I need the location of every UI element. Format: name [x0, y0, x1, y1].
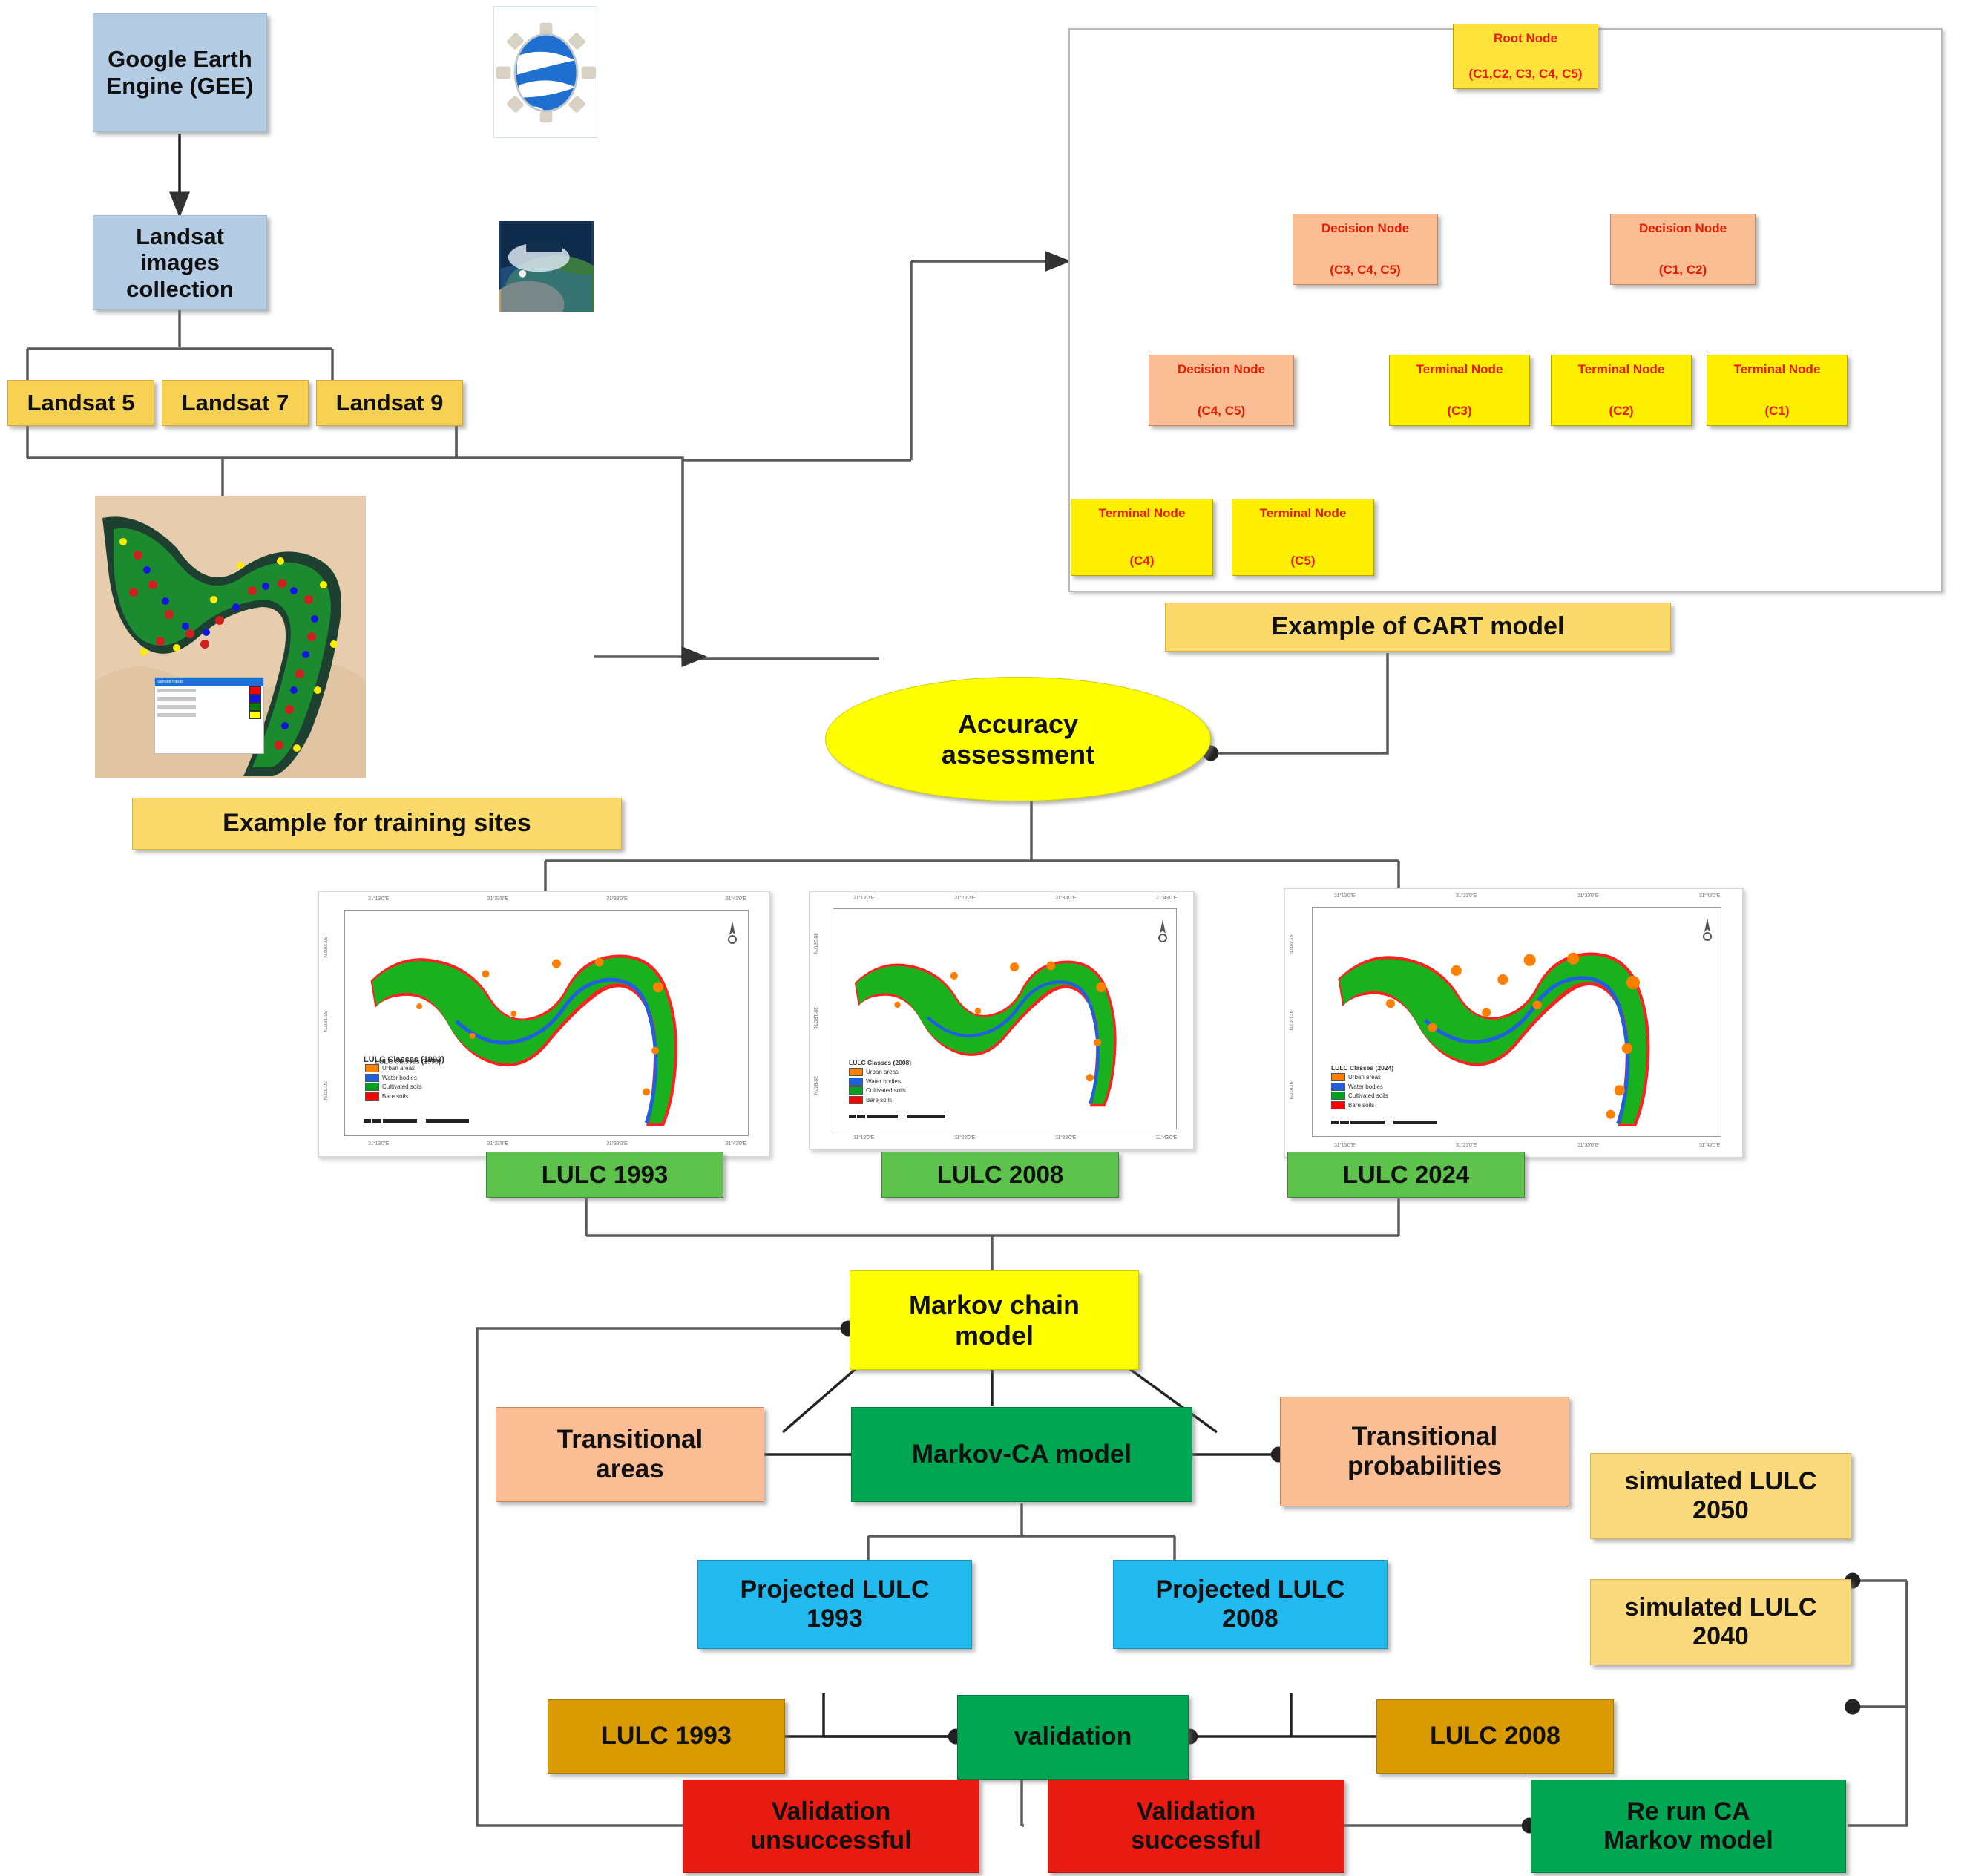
swatch-urban — [365, 1064, 379, 1072]
map-legend-2008: LULC Classes (2008) Urban areas Water bo… — [849, 1059, 911, 1105]
validation-successful-box[interactable]: Validation successful — [1048, 1780, 1344, 1873]
legend-label: Cultivated soils — [866, 1087, 906, 1094]
swatch-water — [365, 1074, 379, 1082]
legend-row: Water bodies — [849, 1078, 911, 1086]
training-legend-row — [155, 686, 263, 695]
cart-terminal-node-c3[interactable]: Terminal Node (C3) — [1389, 355, 1530, 426]
accuracy-line1: Accuracy — [942, 709, 1094, 739]
map-y-tick-2008: 30°28'0"N — [812, 933, 818, 954]
legend-label: Cultivated soils — [382, 1083, 422, 1090]
terminal-node-classes: (C4) — [1073, 554, 1211, 568]
legend-label: Bare soils — [1348, 1102, 1374, 1109]
lulc-1993-label: LULC 1993 — [601, 1722, 732, 1751]
terminal-node-classes: (C3) — [1391, 404, 1528, 419]
cart-caption-label: Example of CART model — [1272, 612, 1565, 641]
map-legend-2024: LULC Classes (2024) Urban areas Water bo… — [1331, 1064, 1393, 1110]
map-x-ticks-top-2024: 31°13'0"E31°23'0"E31°33'0"E31°43'0"E — [1334, 893, 1720, 899]
swatch-urban — [249, 686, 261, 695]
legend-row: Water bodies — [365, 1074, 422, 1082]
swatch-bare — [249, 711, 261, 719]
transitional-areas-line2: areas — [557, 1454, 703, 1484]
sensor-landsat-9[interactable]: Landsat 9 — [316, 380, 463, 426]
swatch-urban — [849, 1068, 863, 1076]
legend-title-1993: LULC Classes (1993) — [364, 1055, 444, 1064]
swatch-cultivated — [365, 1083, 379, 1091]
map-legend-1993: Urban areas Water bodies Cultivated soil… — [365, 1064, 422, 1101]
legend-label: Water bodies — [866, 1078, 901, 1085]
map-scalebar-1993 — [364, 1119, 469, 1123]
sensor-label: Landsat 9 — [336, 390, 444, 416]
projected-1993-line2: 1993 — [740, 1604, 929, 1633]
terminal-node-classes: (C5) — [1234, 554, 1372, 568]
lulc-caption-label: LULC 2008 — [937, 1161, 1064, 1189]
sim-2050-line1: simulated LULC — [1625, 1467, 1817, 1496]
cart-terminal-node-c5[interactable]: Terminal Node (C5) — [1232, 499, 1374, 576]
terminal-node-title: Terminal Node — [1709, 362, 1845, 377]
cart-terminal-node-c4[interactable]: Terminal Node (C4) — [1071, 499, 1213, 576]
swatch-cultivated — [249, 703, 261, 711]
sim-2040-line2: 2040 — [1625, 1622, 1817, 1651]
terminal-node-title: Terminal Node — [1391, 362, 1528, 377]
training-legend-label — [157, 705, 196, 709]
map-x-ticks-bottom-2024: 31°13'0"E31°23'0"E31°33'0"E31°43'0"E — [1334, 1143, 1720, 1148]
decision-node-title: Decision Node — [1151, 362, 1292, 377]
workflow-diagram: Google Earth Engine (GEE) Landsat images… — [0, 0, 1970, 1876]
training-legend-header: Sample Inputs — [155, 678, 263, 686]
cart-terminal-node-c2[interactable]: Terminal Node (C2) — [1551, 355, 1692, 426]
simulated-lulc-2050-box[interactable]: simulated LULC 2050 — [1590, 1453, 1851, 1539]
training-sites-legend: Sample Inputs — [154, 677, 264, 754]
transitional-prob-line1: Transitional — [1347, 1422, 1502, 1452]
legend-label: Urban areas — [866, 1069, 899, 1075]
lulc-map-card-2008: LULC Classes (2008) Urban areas Water bo… — [809, 891, 1195, 1150]
map-y-tick-2008: 30°18'0"N — [812, 1007, 818, 1028]
markov-chain-line2: model — [909, 1320, 1080, 1351]
lulc-map-card-2024: LULC Classes (2024) Urban areas Water bo… — [1284, 888, 1744, 1158]
legend-row: Urban areas — [849, 1068, 911, 1076]
decision-node-classes: (C3, C4, C5) — [1295, 263, 1436, 278]
lulc-2008-reference-box[interactable]: LULC 2008 — [1376, 1699, 1614, 1774]
landsat-collection-box[interactable]: Landsat images collection — [93, 215, 267, 310]
projected-1993-line1: Projected LULC — [740, 1575, 929, 1604]
rerun-line2: Markov model — [1603, 1826, 1773, 1855]
swatch-bare — [1331, 1101, 1345, 1109]
swatch-water — [1331, 1083, 1345, 1091]
cart-decision-node-c3c4c5[interactable]: Decision Node (C3, C4, C5) — [1293, 214, 1438, 285]
map-x-ticks-bottom-1993: 31°13'0"E31°23'0"E31°33'0"E31°43'0"E — [368, 1141, 746, 1147]
training-legend-label — [157, 689, 196, 692]
map-y-tick-2008: 30°8'0"N — [812, 1076, 818, 1095]
cart-decision-node-c4c5[interactable]: Decision Node (C4, C5) — [1149, 355, 1294, 426]
map-x-ticks-top-1993: 31°13'0"E31°23'0"E31°33'0"E31°43'0"E — [368, 896, 746, 902]
cart-decision-node-c1c2[interactable]: Decision Node (C1, C2) — [1610, 214, 1756, 285]
markov-chain-line1: Markov chain — [909, 1290, 1080, 1320]
validation-unsuccessful-line2: unsuccessful — [750, 1826, 911, 1855]
sim-2040-line1: simulated LULC — [1625, 1593, 1817, 1622]
training-legend-row — [155, 711, 263, 719]
projected-lulc-2008-box[interactable]: Projected LULC 2008 — [1113, 1560, 1388, 1649]
swatch-cultivated — [1331, 1092, 1345, 1100]
swatch-bare — [849, 1096, 863, 1104]
legend-label: Bare soils — [866, 1097, 892, 1103]
training-legend-label — [157, 713, 196, 717]
terminal-node-classes: (C1) — [1709, 404, 1845, 419]
transitional-probabilities-box[interactable]: Transitional probabilities — [1280, 1397, 1569, 1506]
transitional-prob-line2: probabilities — [1347, 1452, 1502, 1481]
validation-successful-line2: successful — [1131, 1826, 1261, 1855]
map-scalebar-2008 — [849, 1115, 945, 1118]
cart-terminal-node-c1[interactable]: Terminal Node (C1) — [1707, 355, 1848, 426]
satellite-thumbnail-icon — [499, 221, 594, 312]
training-caption-label: Example for training sites — [223, 809, 531, 838]
legend-label: Water bodies — [1348, 1083, 1383, 1090]
swatch-water — [249, 695, 261, 703]
training-legend-row — [155, 695, 263, 703]
validation-unsuccessful-line1: Validation — [750, 1797, 911, 1826]
training-sites-caption: Example for training sites — [132, 798, 622, 850]
markov-chain-model-box[interactable]: Markov chain model — [850, 1270, 1139, 1370]
terminal-node-title: Terminal Node — [1553, 362, 1690, 377]
map-y-tick-2024: 30°28'0"N — [1288, 934, 1293, 954]
validation-box[interactable]: validation — [957, 1695, 1189, 1780]
map-scalebar-2024 — [1331, 1121, 1437, 1124]
decision-node-classes: (C4, C5) — [1151, 404, 1292, 419]
legend-row: Urban areas — [1331, 1073, 1393, 1081]
swatch-cultivated — [849, 1086, 863, 1095]
rerun-line1: Re run CA — [1603, 1797, 1773, 1826]
map-x-ticks-bottom-2008: 31°13'0"E31°23'0"E31°33'0"E31°43'0"E — [853, 1135, 1177, 1141]
sensor-label: Landsat 7 — [182, 390, 289, 416]
legend-row: Urban areas — [365, 1064, 422, 1072]
terminal-node-classes: (C2) — [1553, 404, 1690, 419]
lulc-label-2024[interactable]: LULC 2024 — [1287, 1152, 1525, 1198]
lulc-2008-label: LULC 2008 — [1430, 1722, 1560, 1751]
map-y-tick-1993: 30°18'0"N — [322, 1011, 327, 1032]
swatch-water — [849, 1078, 863, 1086]
legend-label: Urban areas — [382, 1065, 415, 1072]
sensor-landsat-7[interactable]: Landsat 7 — [162, 380, 309, 426]
transitional-areas-line1: Transitional — [557, 1425, 703, 1454]
lulc-caption-label: LULC 1993 — [542, 1161, 669, 1189]
validation-successful-line1: Validation — [1131, 1797, 1261, 1826]
google-earth-engine-globe-icon — [493, 6, 597, 138]
validation-label: validation — [1014, 1722, 1132, 1751]
north-arrow-icon — [726, 919, 739, 950]
lulc-label-2008[interactable]: LULC 2008 — [881, 1152, 1119, 1198]
north-arrow-icon — [1701, 916, 1714, 947]
map-y-tick-1993: 30°8'0"N — [322, 1081, 327, 1100]
sensor-landsat-5[interactable]: Landsat 5 — [7, 380, 154, 426]
legend-label: Cultivated soils — [1348, 1092, 1388, 1099]
legend-row: Cultivated soils — [365, 1083, 422, 1091]
swatch-urban — [1331, 1073, 1345, 1081]
training-legend-label — [157, 697, 196, 701]
validation-unsuccessful-box[interactable]: Validation unsuccessful — [683, 1780, 979, 1873]
projected-2008-line1: Projected LULC — [1155, 1575, 1344, 1604]
accuracy-line2: assessment — [942, 739, 1094, 770]
legend-row: Cultivated soils — [849, 1086, 911, 1095]
simulated-lulc-2040-box[interactable]: simulated LULC 2040 — [1590, 1579, 1851, 1665]
cart-root-node[interactable]: Root Node (C1,C2, C3, C4, C5) — [1453, 24, 1598, 89]
projected-2008-line2: 2008 — [1155, 1604, 1344, 1633]
map-x-ticks-top-2008: 31°13'0"E31°23'0"E31°33'0"E31°43'0"E — [853, 896, 1177, 901]
legend-label: Urban areas — [1348, 1074, 1381, 1080]
legend-row: Cultivated soils — [1331, 1092, 1393, 1100]
legend-label: Water bodies — [382, 1075, 417, 1081]
rerun-ca-markov-model-box[interactable]: Re run CA Markov model — [1531, 1780, 1846, 1873]
lulc-caption-label: LULC 2024 — [1343, 1161, 1470, 1189]
accuracy-assessment-node[interactable]: Accuracy assessment — [825, 677, 1211, 801]
lulc-label-1993[interactable]: LULC 1993 — [486, 1152, 723, 1198]
training-legend-row — [155, 703, 263, 711]
transitional-areas-box[interactable]: Transitional areas — [496, 1407, 764, 1502]
sim-2050-line2: 2050 — [1625, 1496, 1817, 1525]
decision-node-title: Decision Node — [1295, 221, 1436, 236]
terminal-node-title: Terminal Node — [1073, 506, 1211, 521]
markov-ca-model-box[interactable]: Markov-CA model — [851, 1407, 1192, 1502]
decision-node-classes: (C1, C2) — [1612, 263, 1753, 278]
projected-lulc-1993-box[interactable]: Projected LULC 1993 — [697, 1560, 972, 1649]
legend-title: LULC Classes (2008) — [849, 1059, 911, 1066]
markov-ca-label: Markov-CA model — [912, 1440, 1132, 1469]
legend-row: Bare soils — [1331, 1101, 1393, 1109]
lulc-1993-reference-box[interactable]: LULC 1993 — [548, 1699, 785, 1774]
cart-caption: Example of CART model — [1165, 603, 1671, 652]
root-node-classes: (C1,C2, C3, C4, C5) — [1455, 67, 1596, 82]
gee-box[interactable]: Google Earth Engine (GEE) — [93, 13, 267, 132]
decision-node-title: Decision Node — [1612, 221, 1753, 236]
legend-row: Water bodies — [1331, 1083, 1393, 1091]
gee-label: Google Earth Engine (GEE) — [99, 46, 260, 99]
lulc-map-card-1993: LULC Classes (1993) Urban areas Water bo… — [318, 891, 770, 1158]
legend-label: Bare soils — [382, 1093, 408, 1100]
north-arrow-icon — [1156, 917, 1169, 948]
sensor-label: Landsat 5 — [27, 390, 135, 416]
swatch-bare — [365, 1092, 379, 1101]
terminal-node-title: Terminal Node — [1234, 506, 1372, 521]
map-y-tick-2024: 30°8'0"N — [1288, 1080, 1293, 1099]
map-y-tick-1993: 30°28'0"N — [322, 937, 327, 957]
landsat-collection-label: Landsat images collection — [99, 223, 260, 303]
legend-row: Bare soils — [365, 1092, 422, 1101]
legend-row: Bare soils — [849, 1096, 911, 1104]
legend-title: LULC Classes (2024) — [1331, 1064, 1393, 1072]
map-y-tick-2024: 30°18'0"N — [1288, 1009, 1293, 1030]
root-node-title: Root Node — [1455, 31, 1596, 46]
